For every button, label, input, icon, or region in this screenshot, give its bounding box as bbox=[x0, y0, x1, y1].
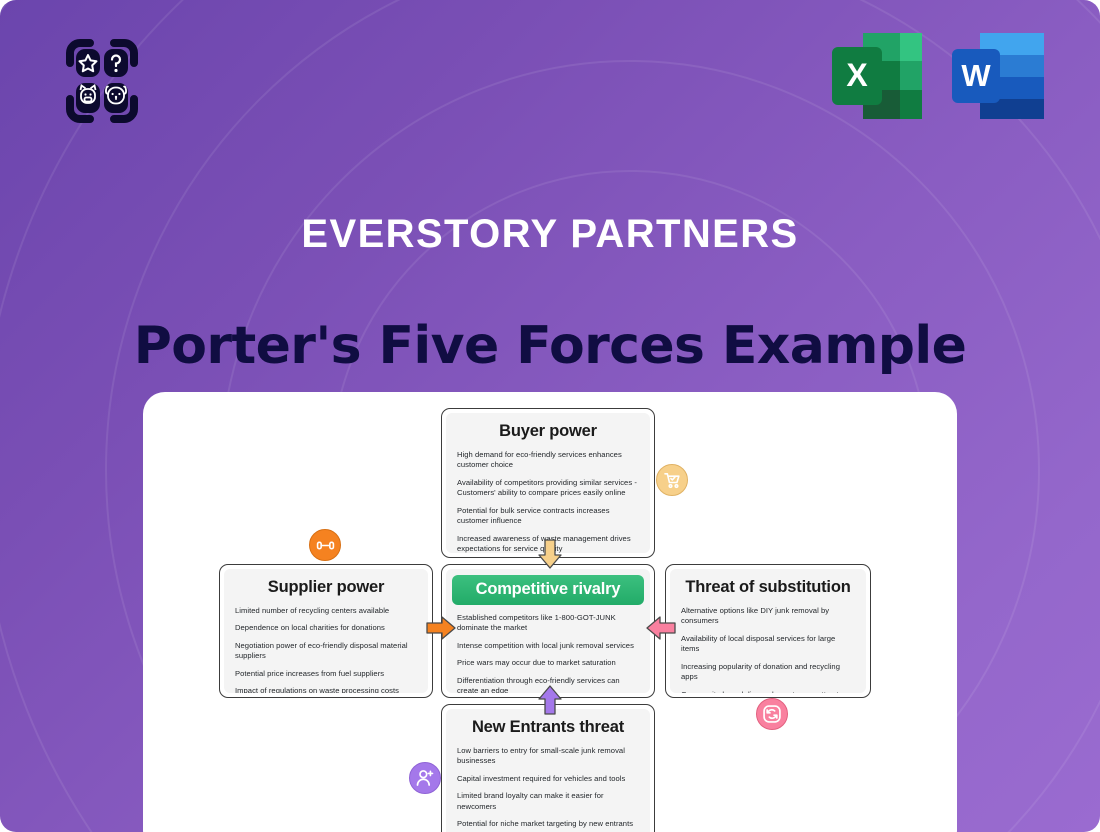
bullet-list: Low barriers to entry for small-scale ju… bbox=[457, 746, 639, 832]
bullet-list: Limited number of recycling centers avai… bbox=[235, 606, 417, 693]
list-item: Impact of regulations on waste processin… bbox=[235, 686, 417, 693]
list-item: Alternative options like DIY junk remova… bbox=[681, 606, 855, 627]
bullet-list: High demand for eco-friendly services en… bbox=[457, 450, 639, 553]
list-item: Availability of competitors providing si… bbox=[457, 478, 639, 499]
list-item: Intense competition with local junk remo… bbox=[457, 641, 639, 651]
bullet-list: Established competitors like 1-800-GOT-J… bbox=[457, 613, 639, 693]
arrow-up-entrants-to-rivalry bbox=[536, 685, 564, 715]
force-card-supplier[interactable]: Supplier power Limited number of recycli… bbox=[219, 564, 433, 698]
shopping-cart-icon bbox=[656, 464, 688, 496]
list-item: Limited number of recycling centers avai… bbox=[235, 606, 417, 616]
excel-icon[interactable]: X bbox=[818, 30, 924, 122]
card-title: Threat of substitution bbox=[681, 578, 855, 597]
list-item: Potential for bulk service contracts inc… bbox=[457, 506, 639, 527]
arrow-right-supplier-to-rivalry bbox=[426, 614, 456, 642]
card-title: Buyer power bbox=[457, 422, 639, 441]
force-card-substitution[interactable]: Threat of substitution Alternative optio… bbox=[665, 564, 871, 698]
recycle-icon bbox=[756, 698, 788, 730]
card-body: Supplier power Limited number of recycli… bbox=[224, 569, 428, 693]
card-body: Threat of substitution Alternative optio… bbox=[670, 569, 866, 693]
list-item: Low barriers to entry for small-scale ju… bbox=[457, 746, 639, 767]
force-card-buyer[interactable]: Buyer power High demand for eco-friendly… bbox=[441, 408, 655, 558]
card-title: New Entrants threat bbox=[457, 718, 639, 737]
list-item: Potential price increases from fuel supp… bbox=[235, 669, 417, 679]
list-item: Limited brand loyalty can make it easier… bbox=[457, 791, 639, 812]
list-item: Increasing popularity of donation and re… bbox=[681, 662, 855, 683]
list-item: Community-based disposal events may attr… bbox=[681, 690, 855, 693]
bullet-list: Alternative options like DIY junk remova… bbox=[681, 606, 855, 693]
brand-title: EVERSTORY PARTNERS bbox=[0, 212, 1100, 257]
slide-canvas: X W EVERSTORY PARTNERS Porter's Five For… bbox=[0, 0, 1100, 832]
card-body: New Entrants threat Low barriers to entr… bbox=[446, 709, 650, 832]
arrow-left-substitution-to-rivalry bbox=[646, 614, 676, 642]
dumbbell-icon bbox=[309, 529, 341, 561]
list-item: Dependence on local charities for donati… bbox=[235, 623, 417, 633]
card-title: Competitive rivalry bbox=[452, 575, 644, 605]
add-person-icon bbox=[409, 762, 441, 794]
card-body: Competitive rivalry Established competit… bbox=[446, 569, 650, 693]
word-icon[interactable]: W bbox=[940, 30, 1046, 122]
list-item: Potential for niche market targeting by … bbox=[457, 819, 639, 829]
list-item: Availability of local disposal services … bbox=[681, 634, 855, 655]
card-title: Supplier power bbox=[235, 578, 417, 597]
arrow-down-buyer-to-rivalry bbox=[536, 539, 564, 569]
list-item: Capital investment required for vehicles… bbox=[457, 774, 639, 784]
list-item: High demand for eco-friendly services en… bbox=[457, 450, 639, 471]
card-body: Buyer power High demand for eco-friendly… bbox=[446, 413, 650, 553]
pet-scan-logo-icon bbox=[48, 27, 156, 135]
force-card-rivalry[interactable]: Competitive rivalry Established competit… bbox=[441, 564, 655, 698]
page-title: Porter's Five Forces Example bbox=[0, 316, 1100, 376]
list-item: Price wars may occur due to market satur… bbox=[457, 658, 639, 668]
force-card-entrants[interactable]: New Entrants threat Low barriers to entr… bbox=[441, 704, 655, 832]
diagram-canvas: Buyer power High demand for eco-friendly… bbox=[143, 392, 957, 832]
list-item: Established competitors like 1-800-GOT-J… bbox=[457, 613, 639, 634]
svg-text:X: X bbox=[846, 57, 868, 93]
list-item: Negotiation power of eco-friendly dispos… bbox=[235, 641, 417, 662]
svg-text:W: W bbox=[961, 58, 991, 93]
